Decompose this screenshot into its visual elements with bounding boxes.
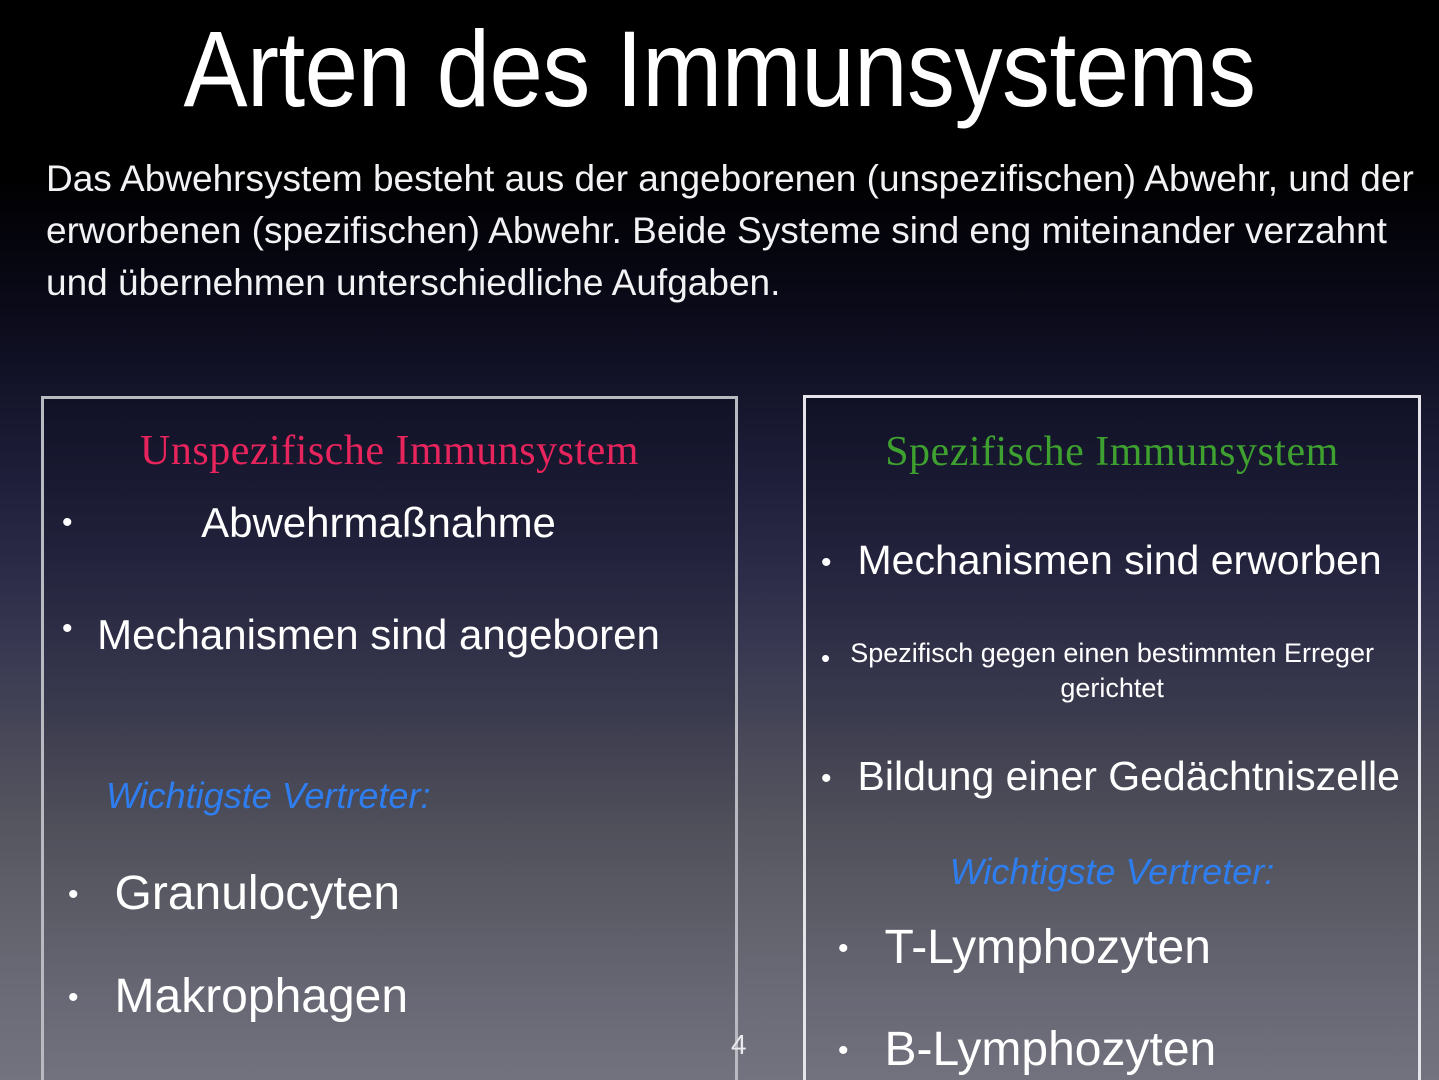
bullet-icon: • xyxy=(838,1022,849,1066)
list-item-label: B-Lymphozyten xyxy=(885,1022,1217,1078)
page-title: Arten des Immunsystems xyxy=(0,12,1439,128)
list-item-label: Mechanismen sind angeboren xyxy=(49,604,709,666)
list-item-label: T-Lymphozyten xyxy=(885,920,1211,976)
list-item: • B-Lymphozyten xyxy=(838,1022,1216,1078)
list-item: • Mechanismen sind angeboren xyxy=(62,604,722,666)
list-item-label: Bildung einer Gedächtniszelle xyxy=(858,751,1400,801)
panel-specific-immune-system: Spezifische Immunsystem • Mechanismen si… xyxy=(803,395,1421,1080)
bullet-icon: • xyxy=(838,920,849,964)
panel-left-heading: Unspezifische Immunsystem xyxy=(44,427,735,475)
panel-unspecific-immune-system: Unspezifische Immunsystem • Abwehrmaßnah… xyxy=(41,396,738,1080)
list-item-label: Granulocyten xyxy=(115,866,401,922)
panel-left-vertreter-label: Wichtigste Vertreter: xyxy=(106,775,430,817)
list-item-label: Mechanismen sind erworben xyxy=(858,535,1382,585)
list-item-label: Spezifisch gegen einen bestimmten Errege… xyxy=(812,636,1412,706)
list-item: • T-Lymphozyten xyxy=(838,920,1211,976)
bullet-icon: • xyxy=(821,751,832,794)
page-number: 4 xyxy=(731,1029,747,1061)
panel-right-heading: Spezifische Immunsystem xyxy=(806,428,1418,476)
panel-right-vertreter-label: Wichtigste Vertreter: xyxy=(806,851,1418,893)
list-item: • Mechanismen sind erworben xyxy=(821,535,1382,585)
bullet-icon: • xyxy=(821,535,832,578)
list-item: • Abwehrmaßnahme xyxy=(62,498,722,548)
list-item: • Granulocyten xyxy=(68,866,400,922)
list-item: • Spezifisch gegen einen bestimmten Erre… xyxy=(821,636,1421,706)
bullet-icon: • xyxy=(68,866,79,910)
list-item-label: Abwehrmaßnahme xyxy=(49,498,709,548)
list-item: • Makrophagen xyxy=(68,969,408,1025)
list-item: • Bildung einer Gedächtniszelle xyxy=(821,751,1400,801)
slide-canvas: Arten des Immunsystems Das Abwehrsystem … xyxy=(0,0,1439,1080)
intro-paragraph: Das Abwehrsystem besteht aus der angebor… xyxy=(46,153,1426,309)
bullet-icon: • xyxy=(68,969,79,1013)
list-item-label: Makrophagen xyxy=(115,969,409,1025)
